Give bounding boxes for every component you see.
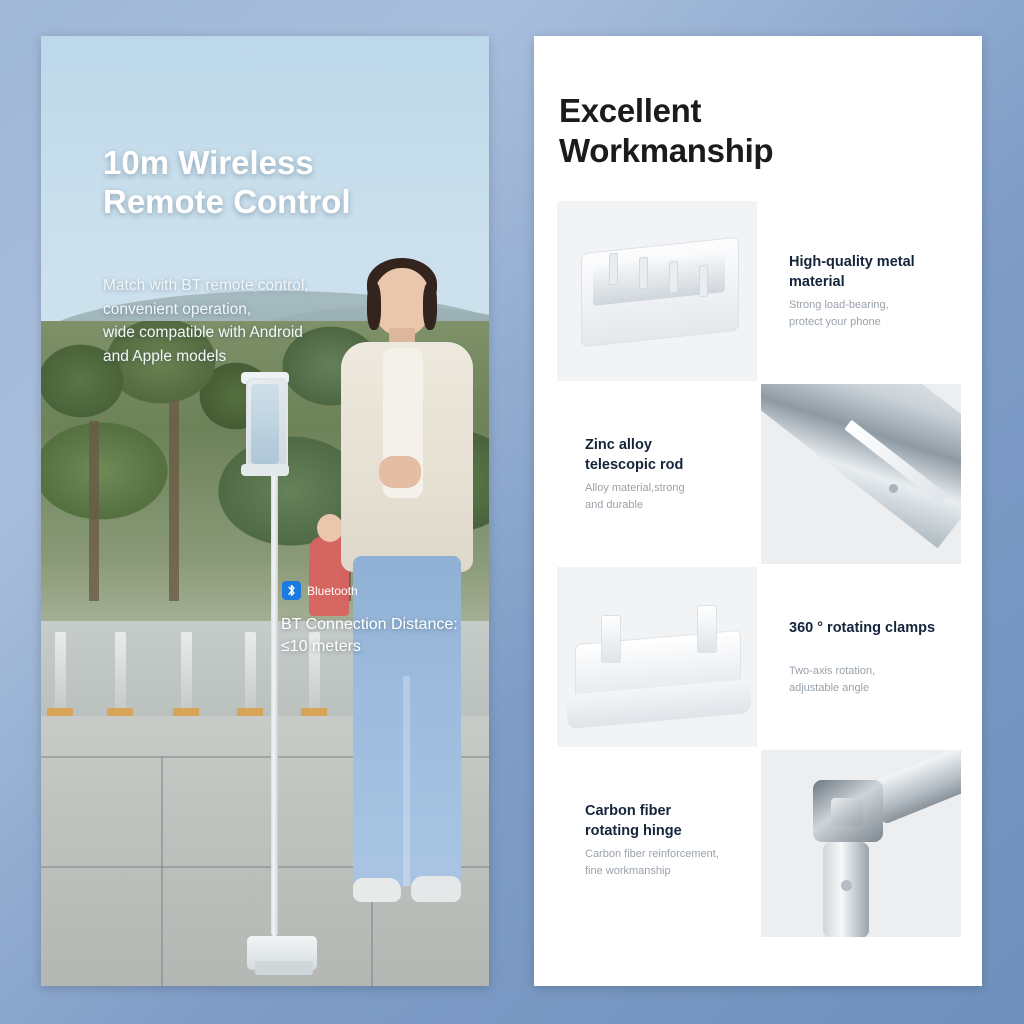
phone-clamp-bottom bbox=[241, 464, 289, 476]
left-subcopy: Match with BT remote control, convenient… bbox=[103, 274, 403, 368]
feature-title: 360 ° rotating clamps bbox=[789, 619, 954, 639]
hinge-core bbox=[831, 798, 863, 826]
feature-desc: Two-axis rotation, adjustable angle bbox=[789, 663, 957, 696]
feature-text: Carbon fiber rotating hinge Carbon fiber… bbox=[557, 750, 761, 937]
clamp-tooth bbox=[699, 265, 708, 298]
hands bbox=[379, 456, 421, 488]
feature-row: High-quality metal material Strong load-… bbox=[557, 201, 961, 381]
telescopic-rod-photo bbox=[761, 384, 961, 564]
phone-screen bbox=[251, 384, 279, 464]
tree-trunk bbox=[89, 421, 99, 601]
feature-row: 360 ° rotating clamps Two-axis rotation,… bbox=[557, 567, 961, 747]
feature-desc: Alloy material,strong and durable bbox=[585, 480, 753, 513]
feature-row: Carbon fiber rotating hinge Carbon fiber… bbox=[557, 750, 961, 937]
tree-trunk bbox=[169, 401, 179, 601]
fence-post bbox=[55, 632, 66, 714]
right-feature-panel: Excellent Workmanship High-quality metal… bbox=[534, 36, 982, 986]
hinge-button bbox=[841, 880, 852, 891]
jeans-seam bbox=[403, 676, 410, 886]
telescopic-stick bbox=[271, 416, 278, 936]
page-title: Excellent Workmanship bbox=[559, 91, 959, 172]
clamp-tooth bbox=[669, 261, 678, 294]
bt-distance-text: BT Connection Distance: ≤10 meters bbox=[281, 614, 489, 657]
left-headline: 10m Wireless Remote Control bbox=[103, 144, 433, 222]
rotating-clamp-photo bbox=[557, 567, 757, 747]
clamp-tooth bbox=[609, 253, 618, 286]
shoe bbox=[353, 878, 401, 902]
fence-post bbox=[245, 632, 256, 714]
feature-desc: Strong load-bearing, protect your phone bbox=[789, 297, 957, 330]
feature-title: Zinc alloy telescopic rod bbox=[585, 436, 750, 475]
bluetooth-badge: Bluetooth bbox=[282, 581, 358, 600]
feature-title: High-quality metal material bbox=[789, 253, 954, 292]
bluetooth-icon bbox=[282, 581, 301, 600]
background-child-head bbox=[317, 514, 343, 542]
clamp-tooth bbox=[639, 257, 648, 290]
clamp-arm bbox=[601, 615, 621, 663]
fence-post bbox=[115, 632, 126, 714]
clamp-arm bbox=[697, 605, 717, 653]
feature-text: High-quality metal material Strong load-… bbox=[757, 201, 961, 381]
metal-clamp-photo bbox=[557, 201, 757, 381]
feature-title: Carbon fiber rotating hinge bbox=[585, 802, 750, 841]
feature-row: Zinc alloy telescopic rod Alloy material… bbox=[557, 384, 961, 564]
feature-desc: Carbon fiber reinforcement, fine workman… bbox=[585, 846, 753, 879]
shoe bbox=[411, 876, 461, 902]
rod-button bbox=[889, 484, 898, 493]
hair-strand bbox=[423, 282, 437, 330]
bluetooth-label: Bluetooth bbox=[307, 584, 358, 598]
feature-grid: High-quality metal material Strong load-… bbox=[557, 201, 961, 940]
poster-canvas: 10m Wireless Remote Control Match with B… bbox=[0, 0, 1024, 1024]
feature-text: 360 ° rotating clamps Two-axis rotation,… bbox=[757, 567, 961, 747]
left-lifestyle-panel: 10m Wireless Remote Control Match with B… bbox=[41, 36, 489, 986]
fence-post bbox=[181, 632, 192, 714]
carbon-hinge-photo bbox=[761, 750, 961, 937]
tripod-foot bbox=[255, 961, 313, 975]
feature-text: Zinc alloy telescopic rod Alloy material… bbox=[557, 384, 761, 564]
rod-illustration bbox=[761, 384, 961, 548]
pavement-seam bbox=[161, 756, 163, 986]
